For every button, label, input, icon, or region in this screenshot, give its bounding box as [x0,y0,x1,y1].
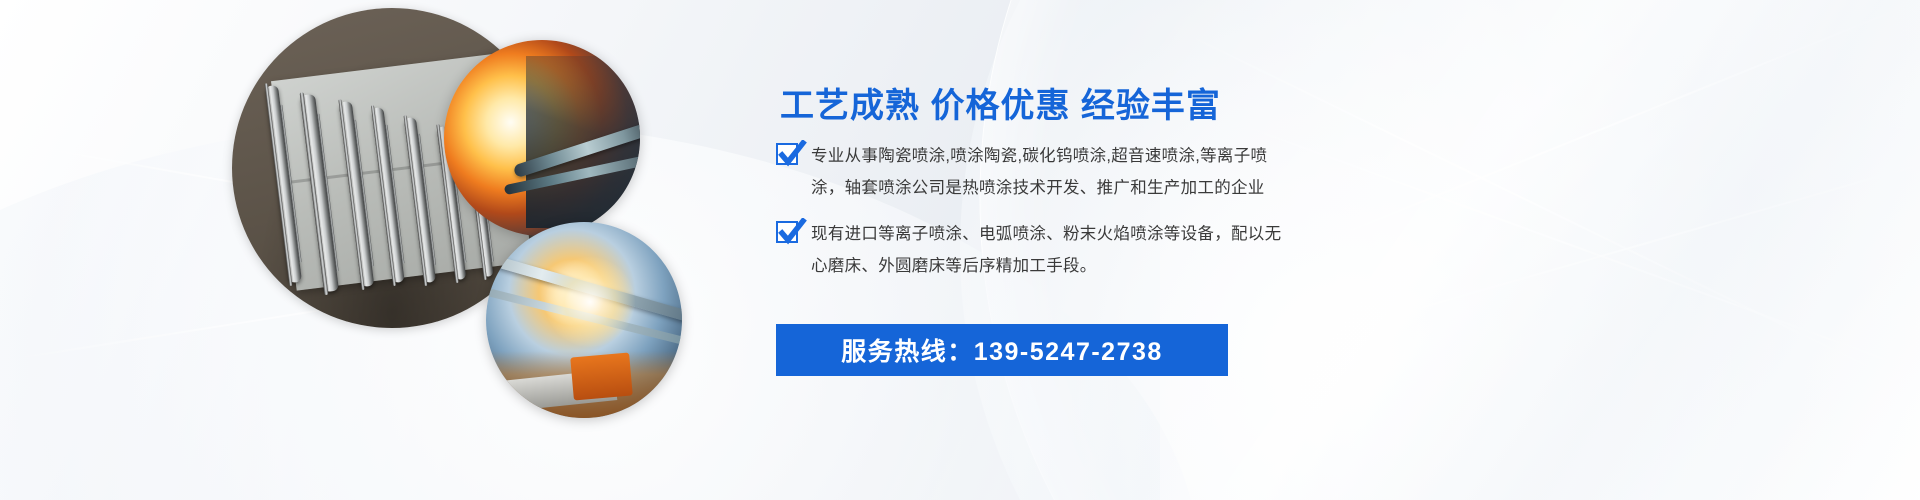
welding-grinding-photo [486,222,682,418]
list-item: 专业从事陶瓷喷涂,喷涂陶瓷,碳化钨喷涂,超音速喷涂,等离子喷涂，轴套喷涂公司是热… [776,140,1296,204]
weld-arc-glow [545,257,635,347]
thermal-spray-flame-photo [444,40,640,236]
list-item: 现有进口等离子喷涂、电弧喷涂、粉末火焰喷涂等设备，配以无心磨床、外圆磨床等后序精… [776,218,1296,282]
hotline-text: 服务热线：139-5247-2738 [841,332,1163,368]
headline: 工艺成熟 价格优惠 经验丰富 [780,78,1221,127]
checkbox-checked-icon [776,143,798,165]
hotline-bar[interactable]: 服务热线：139-5247-2738 [776,324,1228,376]
promo-banner: 工艺成熟 价格优惠 经验丰富 专业从事陶瓷喷涂,喷涂陶瓷,碳化钨喷涂,超音速喷涂… [0,0,1920,500]
feature-text: 专业从事陶瓷喷涂,喷涂陶瓷,碳化钨喷涂,超音速喷涂,等离子喷涂，轴套喷涂公司是热… [811,140,1296,204]
feature-text: 现有进口等离子喷涂、电弧喷涂、粉末火焰喷涂等设备，配以无心磨床、外圆磨床等后序精… [811,218,1296,282]
feature-list: 专业从事陶瓷喷涂,喷涂陶瓷,碳化钨喷涂,超音速喷涂,等离子喷涂，轴套喷涂公司是热… [776,140,1296,296]
copy-block: 工艺成熟 价格优惠 经验丰富 专业从事陶瓷喷涂,喷涂陶瓷,碳化钨喷涂,超音速喷涂… [776,0,1496,500]
photo-cluster [232,0,752,420]
weld-machine-body [570,353,632,401]
checkbox-checked-icon [776,221,798,243]
